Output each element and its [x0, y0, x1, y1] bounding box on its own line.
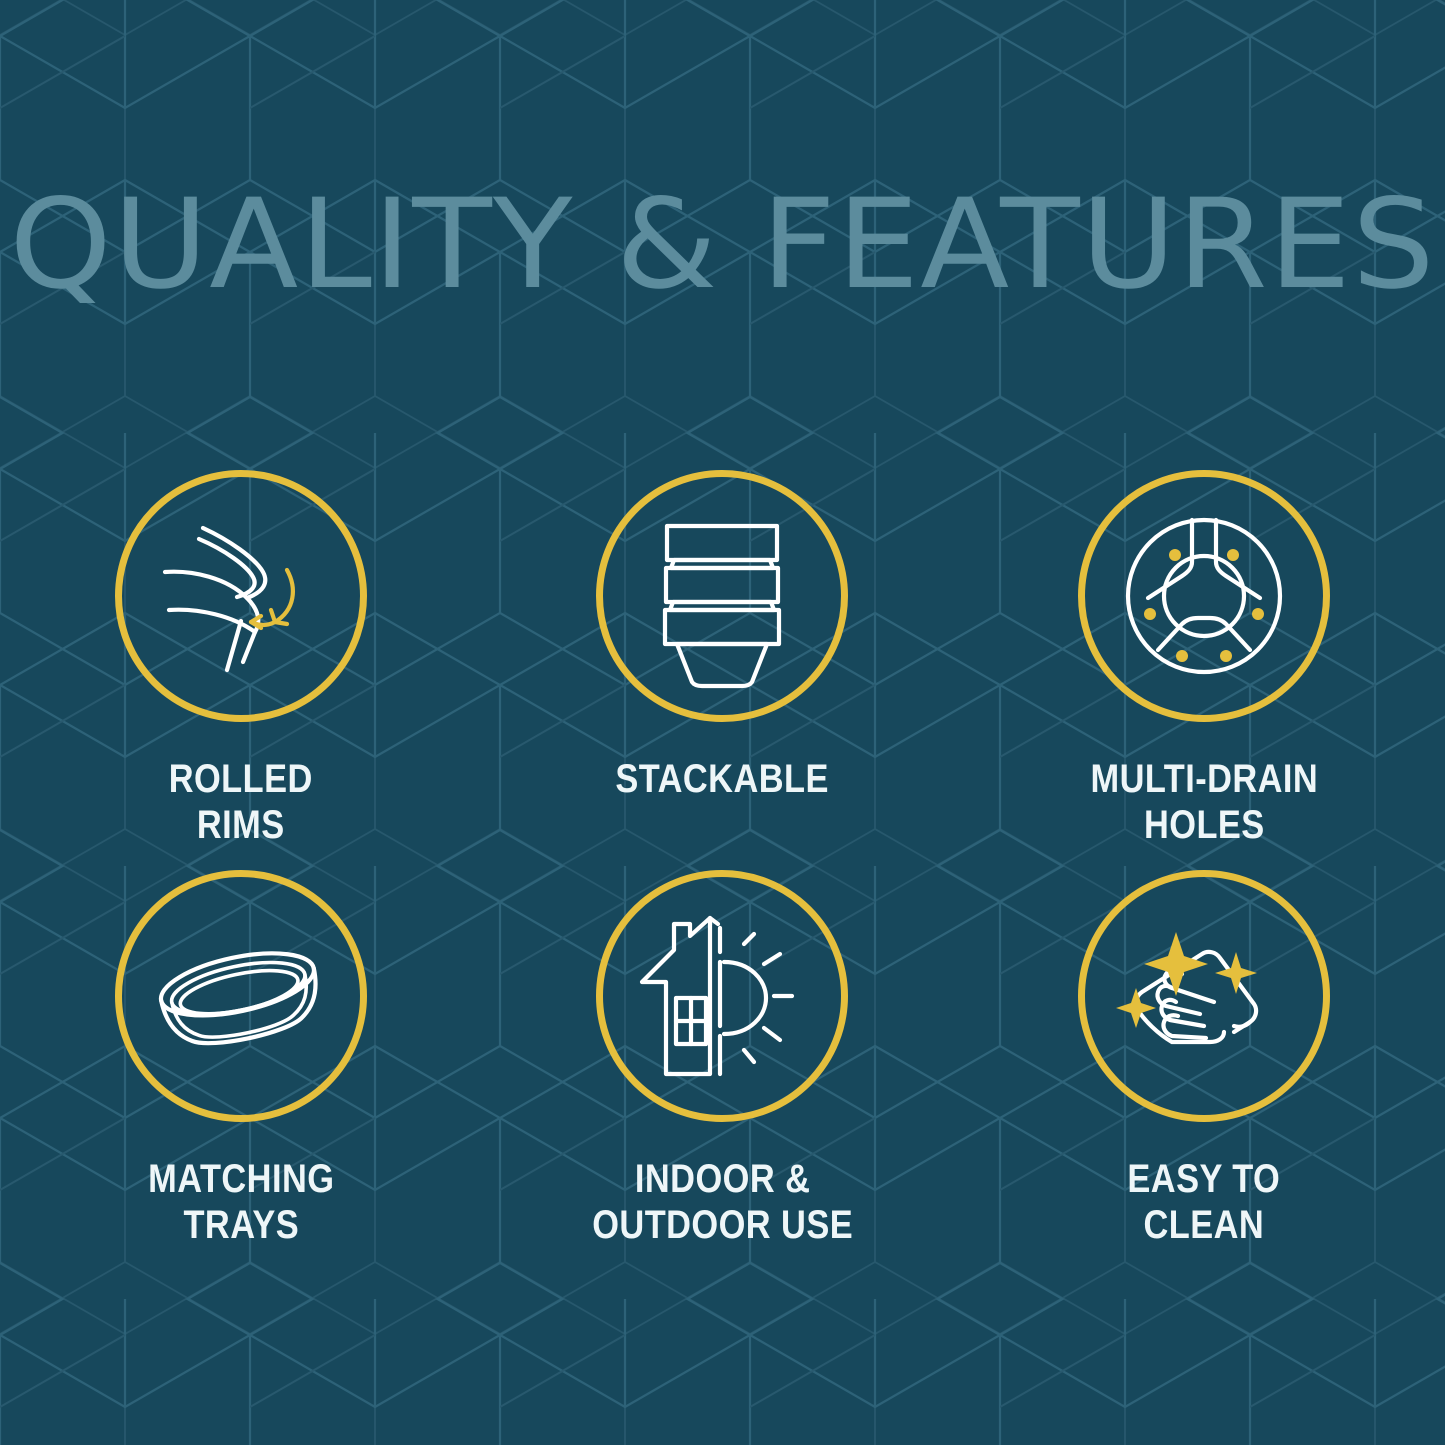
tray-icon: [151, 906, 331, 1086]
icon-circle-matching-trays: [115, 870, 367, 1122]
feature-tile-rolled-rims[interactable]: ROLLED RIMS: [0, 470, 482, 870]
icon-circle-easy-to-clean: [1078, 870, 1330, 1122]
feature-label-indoor-outdoor-use: INDOOR & OUTDOOR USE: [592, 1156, 853, 1248]
feature-tile-easy-to-clean[interactable]: EASY TO CLEAN: [963, 870, 1445, 1270]
feature-tile-stackable[interactable]: STACKABLE: [482, 470, 964, 870]
feature-label-stackable: STACKABLE: [616, 756, 829, 802]
drain-holes-icon: [1114, 506, 1294, 686]
icon-circle-stackable: [596, 470, 848, 722]
features-grid: ROLLED RIMS ST: [0, 470, 1445, 1270]
feature-label-matching-trays: MATCHING TRAYS: [148, 1156, 334, 1248]
quality-features-infographic: QUALITY & FEATURES: [0, 0, 1445, 1445]
feature-tile-multi-drain-holes[interactable]: MULTI-DRAIN HOLES: [963, 470, 1445, 870]
house-sun-icon: [632, 906, 812, 1086]
icon-circle-indoor-outdoor-use: [596, 870, 848, 1122]
feature-tile-indoor-outdoor-use[interactable]: INDOOR & OUTDOOR USE: [482, 870, 964, 1270]
feature-label-easy-to-clean: EASY TO CLEAN: [1128, 1156, 1281, 1248]
rolled-rim-icon: [151, 506, 331, 686]
icon-circle-multi-drain-holes: [1078, 470, 1330, 722]
hand-wipe-sparkle-icon: [1114, 906, 1294, 1086]
feature-tile-matching-trays[interactable]: MATCHING TRAYS: [0, 870, 482, 1270]
page-title: QUALITY & FEATURES: [0, 183, 1445, 307]
icon-circle-rolled-rims: [115, 470, 367, 722]
stacked-pots-icon: [632, 506, 812, 686]
feature-label-rolled-rims: ROLLED RIMS: [169, 756, 313, 848]
feature-label-multi-drain-holes: MULTI-DRAIN HOLES: [1090, 756, 1318, 848]
